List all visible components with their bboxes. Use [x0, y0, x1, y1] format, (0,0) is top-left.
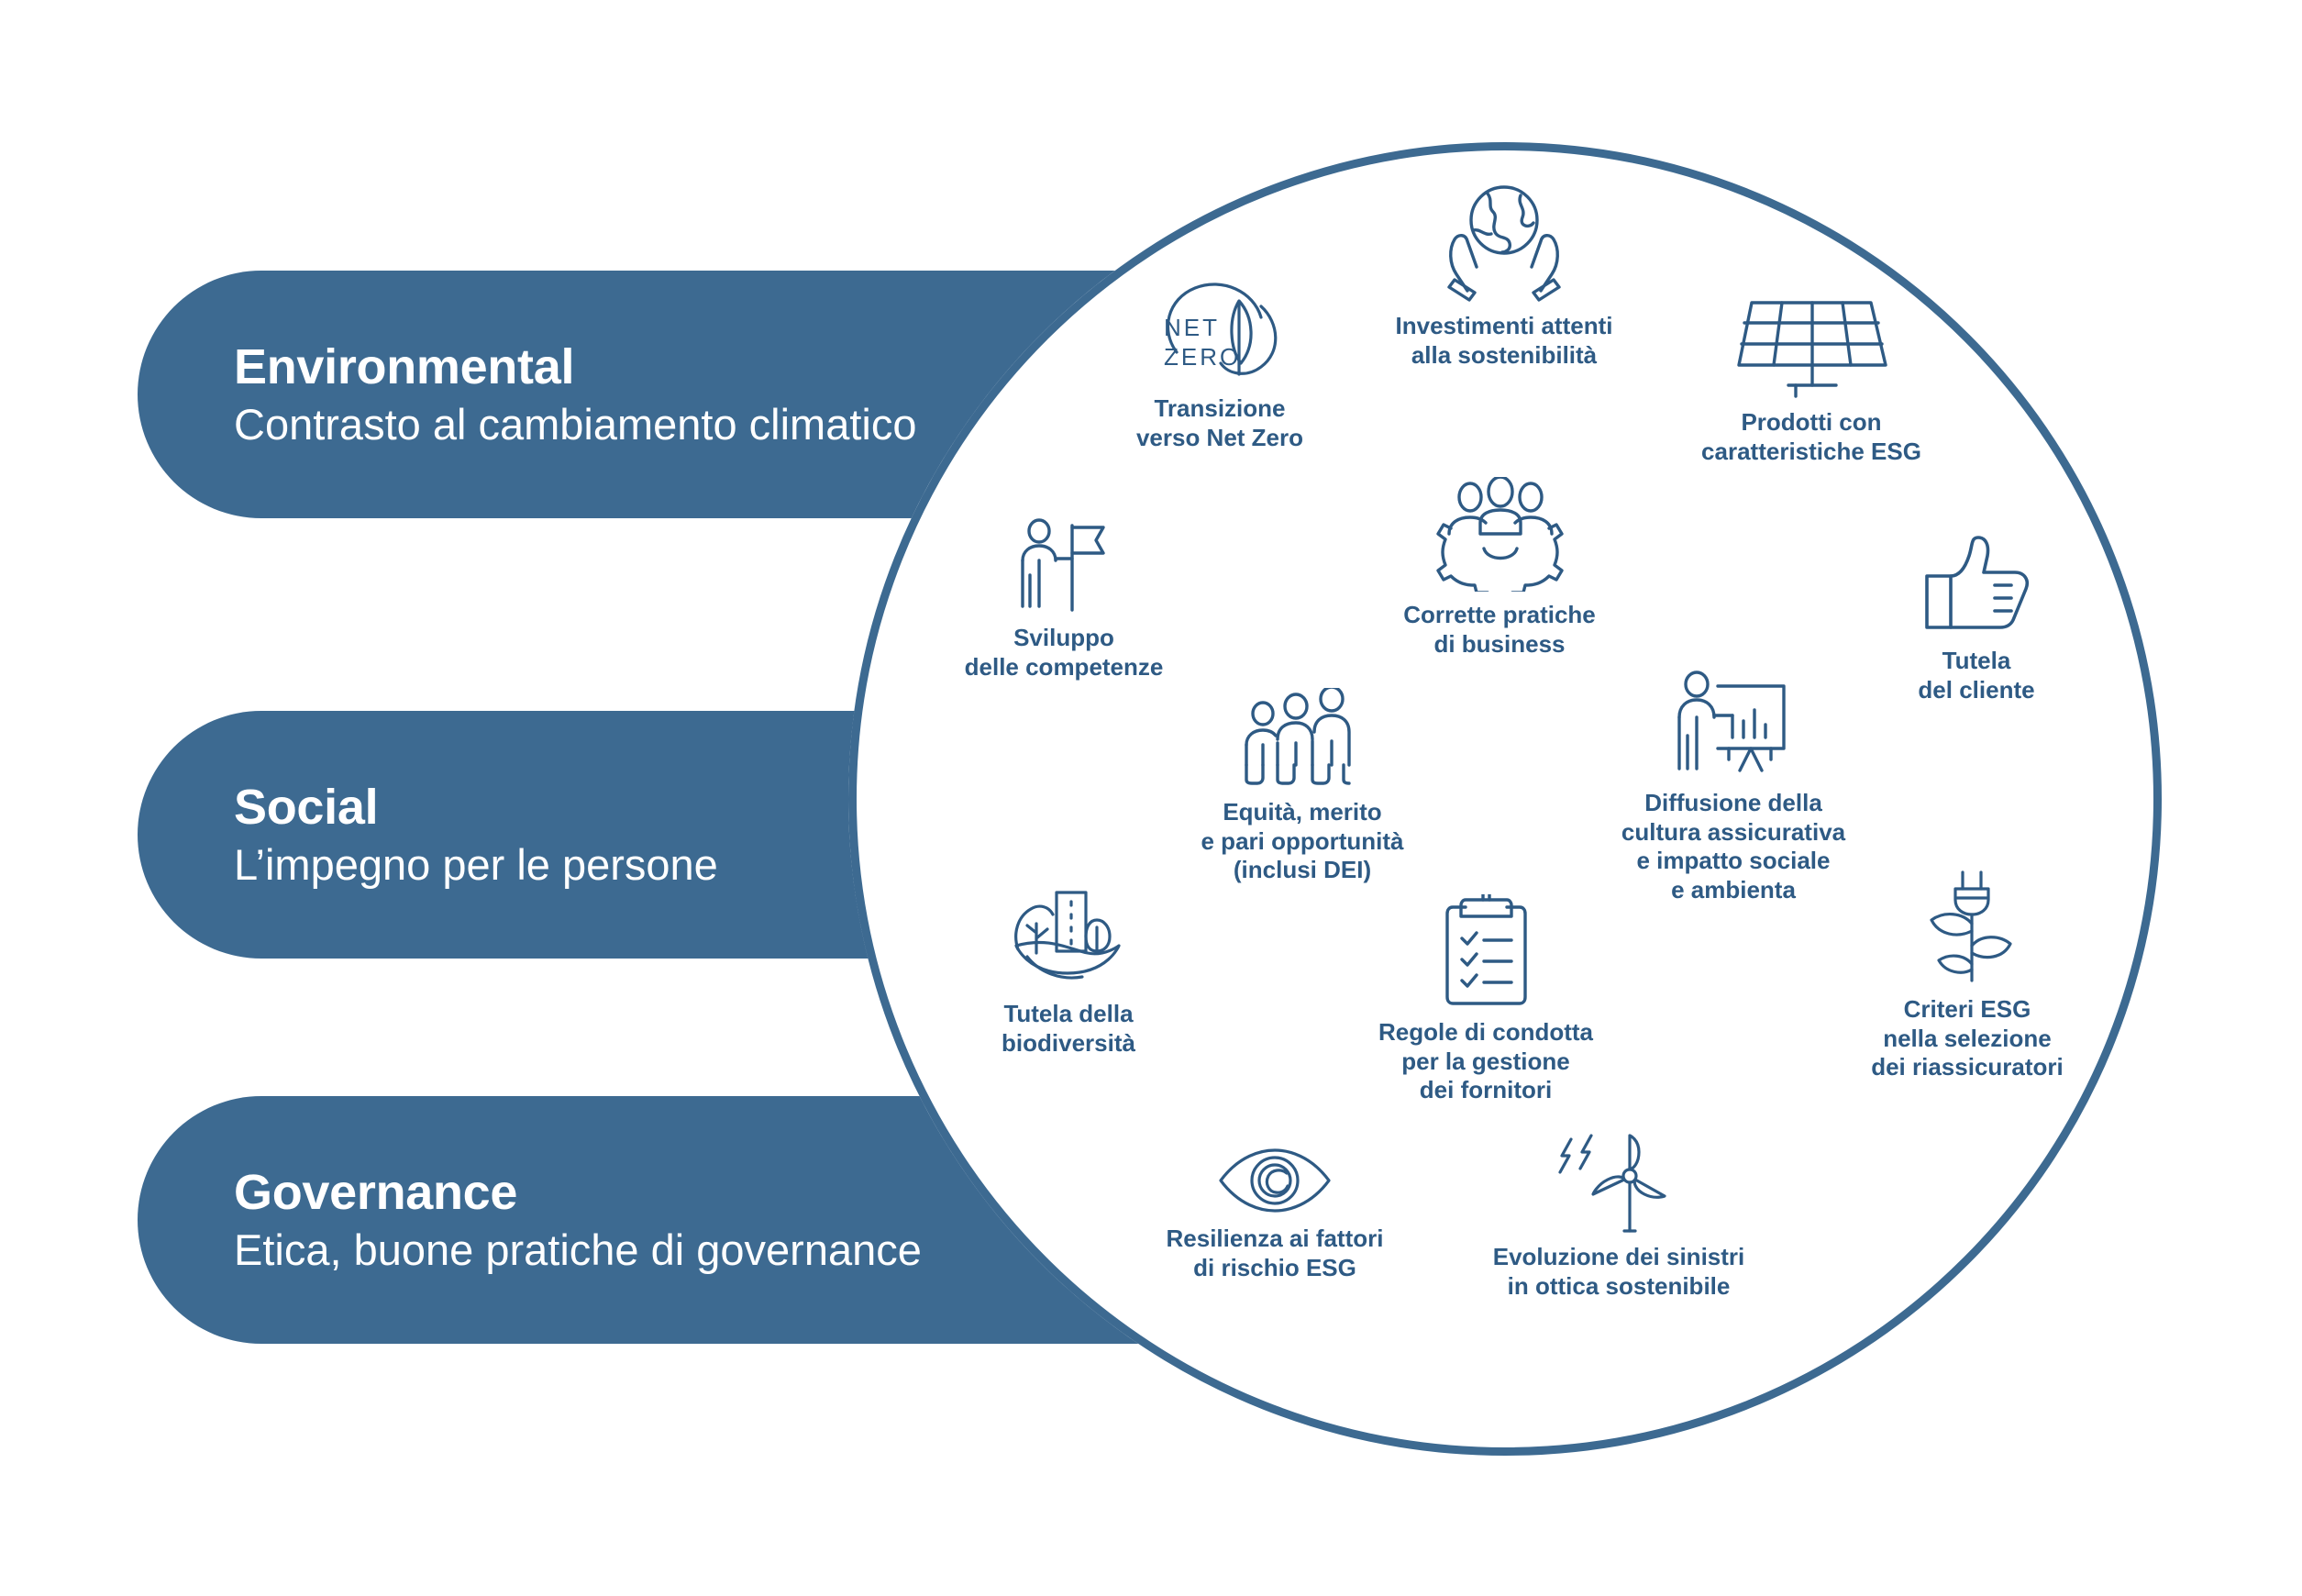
plug-plant-icon — [1915, 867, 2020, 986]
topic-label-tutela-cliente: Tutela del cliente — [1918, 647, 2034, 704]
topic-sviluppo[interactable]: Sviluppo delle competenze — [926, 518, 1201, 682]
topic-sinistri[interactable]: Evoluzione dei sinistri in ottica sosten… — [1454, 1128, 1784, 1301]
esg-infographic: Environmental Contrasto al cambiamento c… — [0, 0, 2302, 1596]
net-zero-text-line1: NET — [1164, 314, 1220, 341]
topic-label-fornitori: Regole di condotta per la gestione dei f… — [1378, 1018, 1593, 1105]
topic-label-biodiversita: Tutela della biodiversità — [1002, 1000, 1135, 1058]
topic-label-investimenti: Investimenti attenti alla sostenibilità — [1396, 312, 1613, 370]
topic-label-resilienza: Resilienza ai fattori di rischio ESG — [1167, 1225, 1384, 1282]
topic-pratiche[interactable]: Corrette pratiche di business — [1348, 477, 1651, 659]
topic-equita[interactable]: Equità, merito e pari opportunità (inclu… — [1151, 688, 1454, 885]
topic-criteri-esg[interactable]: Criteri ESG nella selezione dei riassicu… — [1821, 867, 2114, 1082]
topic-fornitori[interactable]: Regole di condotta per la gestione dei f… — [1334, 894, 1637, 1105]
topic-label-pratiche: Corrette pratiche di business — [1403, 601, 1596, 659]
people-in-gear-icon — [1429, 477, 1571, 592]
presenter-chart-board-icon — [1672, 670, 1796, 780]
topic-label-criteri-esg: Criteri ESG nella selezione dei riassicu… — [1871, 995, 2064, 1082]
topic-label-equita: Equità, merito e pari opportunità (inclu… — [1201, 798, 1404, 885]
city-nature-icon — [1009, 885, 1128, 991]
thumbs-up-icon — [1920, 532, 2034, 637]
person-with-flag-icon — [1012, 518, 1117, 615]
topic-resilienza[interactable]: Resilienza ai fattori di rischio ESG — [1123, 1147, 1426, 1282]
eye-icon — [1215, 1147, 1334, 1215]
topic-prodotti-esg[interactable]: Prodotti con caratteristiche ESG — [1655, 294, 1967, 466]
clipboard-checklist-icon — [1438, 894, 1534, 1009]
net-zero-text-line2: ZERO — [1164, 343, 1241, 371]
topic-biodiversita[interactable]: Tutela della biodiversità — [935, 885, 1201, 1058]
three-people-icon — [1241, 688, 1365, 789]
topic-label-prodotti-esg: Prodotti con caratteristiche ESG — [1701, 408, 1921, 466]
wind-turbine-icon — [1553, 1128, 1686, 1234]
net-zero-leaf-icon: NET ZERO — [1151, 275, 1289, 385]
solar-panel-icon — [1732, 294, 1892, 399]
topic-label-sviluppo: Sviluppo delle competenze — [965, 624, 1164, 682]
hands-holding-globe-icon — [1431, 179, 1577, 303]
topic-net-zero[interactable]: NET ZERO Transizione verso Net Zero — [1082, 275, 1357, 452]
topic-label-sinistri: Evoluzione dei sinistri in ottica sosten… — [1493, 1243, 1745, 1301]
topic-label-diffusione: Diffusione della cultura assicurativa e … — [1621, 789, 1845, 905]
topic-label-net-zero: Transizione verso Net Zero — [1136, 394, 1303, 452]
topic-investimenti[interactable]: Investimenti attenti alla sostenibilità — [1348, 179, 1660, 370]
topic-tutela-cliente[interactable]: Tutela del cliente — [1862, 532, 2091, 704]
